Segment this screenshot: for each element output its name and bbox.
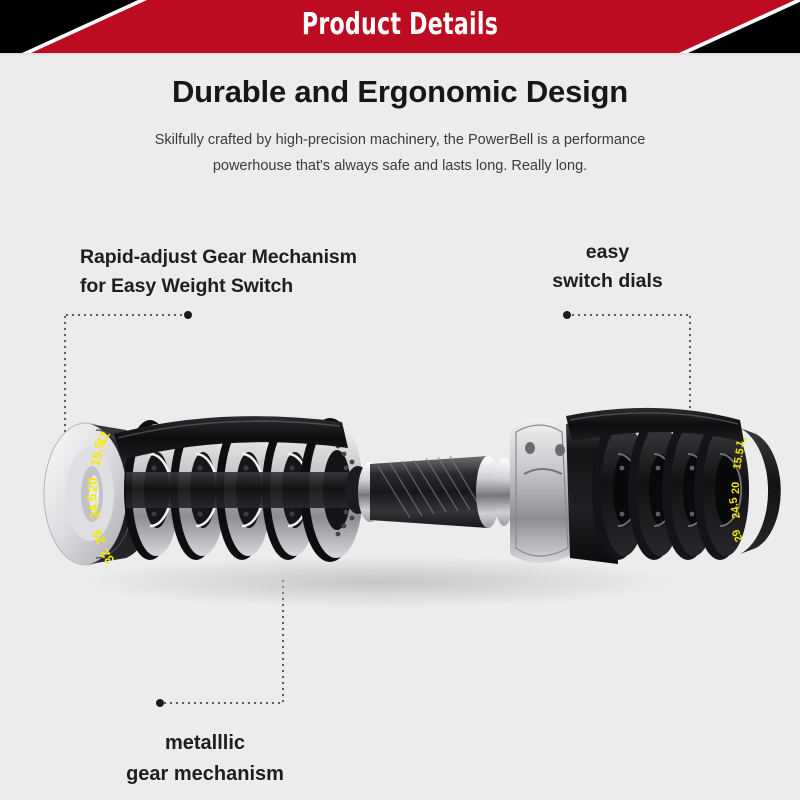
banner-underline bbox=[0, 53, 800, 56]
right-weight-stack: 11 15.5 20 24.5 29 bbox=[510, 408, 781, 564]
subcopy-line-1: Skilfully crafted by high-precision mach… bbox=[100, 127, 700, 153]
leader-metallic-horizontal bbox=[162, 702, 283, 704]
product-shadow bbox=[78, 556, 678, 608]
callout-metallic-gear-label: metalllic gear mechanism bbox=[60, 728, 350, 790]
cam-screw bbox=[555, 444, 565, 456]
callout-gear-mechanism-label: Rapid-adjust Gear Mechanism for Easy Wei… bbox=[80, 243, 357, 301]
page-headline: Durable and Ergonomic Design bbox=[0, 74, 800, 110]
leader-dials-endpoint-dot bbox=[563, 311, 571, 319]
dumbbell-illustration: 11 15.5 20 24.5 29 32 bbox=[18, 368, 782, 628]
handle bbox=[358, 456, 514, 528]
leader-gear-endpoint-dot bbox=[184, 311, 192, 319]
right-plates bbox=[592, 420, 749, 560]
subcopy-line-2: powerhouse that's always safe and lasts … bbox=[100, 153, 700, 179]
callout-switch-dials-label: easy switch dials bbox=[505, 238, 710, 296]
right-cam-housing bbox=[510, 418, 574, 563]
leader-gear-horizontal bbox=[64, 314, 188, 316]
left-weight-stack: 11 15.5 20 24.5 29 32 bbox=[44, 416, 371, 567]
handle-grip bbox=[370, 456, 488, 528]
page-subcopy: Skilfully crafted by high-precision mach… bbox=[100, 127, 700, 179]
leader-dials-horizontal bbox=[570, 314, 690, 316]
product-image-dumbbell: 11 15.5 20 24.5 29 32 bbox=[18, 368, 782, 628]
cam-screw bbox=[525, 442, 535, 454]
banner-title: Product Details bbox=[72, 0, 728, 53]
leader-metallic-endpoint-dot bbox=[156, 699, 164, 707]
dial-number: 20 bbox=[85, 478, 100, 492]
dial-number: 20 bbox=[730, 482, 742, 494]
product-details-page: Product Details Durable and Ergonomic De… bbox=[0, 0, 800, 800]
header-banner: Product Details bbox=[0, 0, 800, 53]
